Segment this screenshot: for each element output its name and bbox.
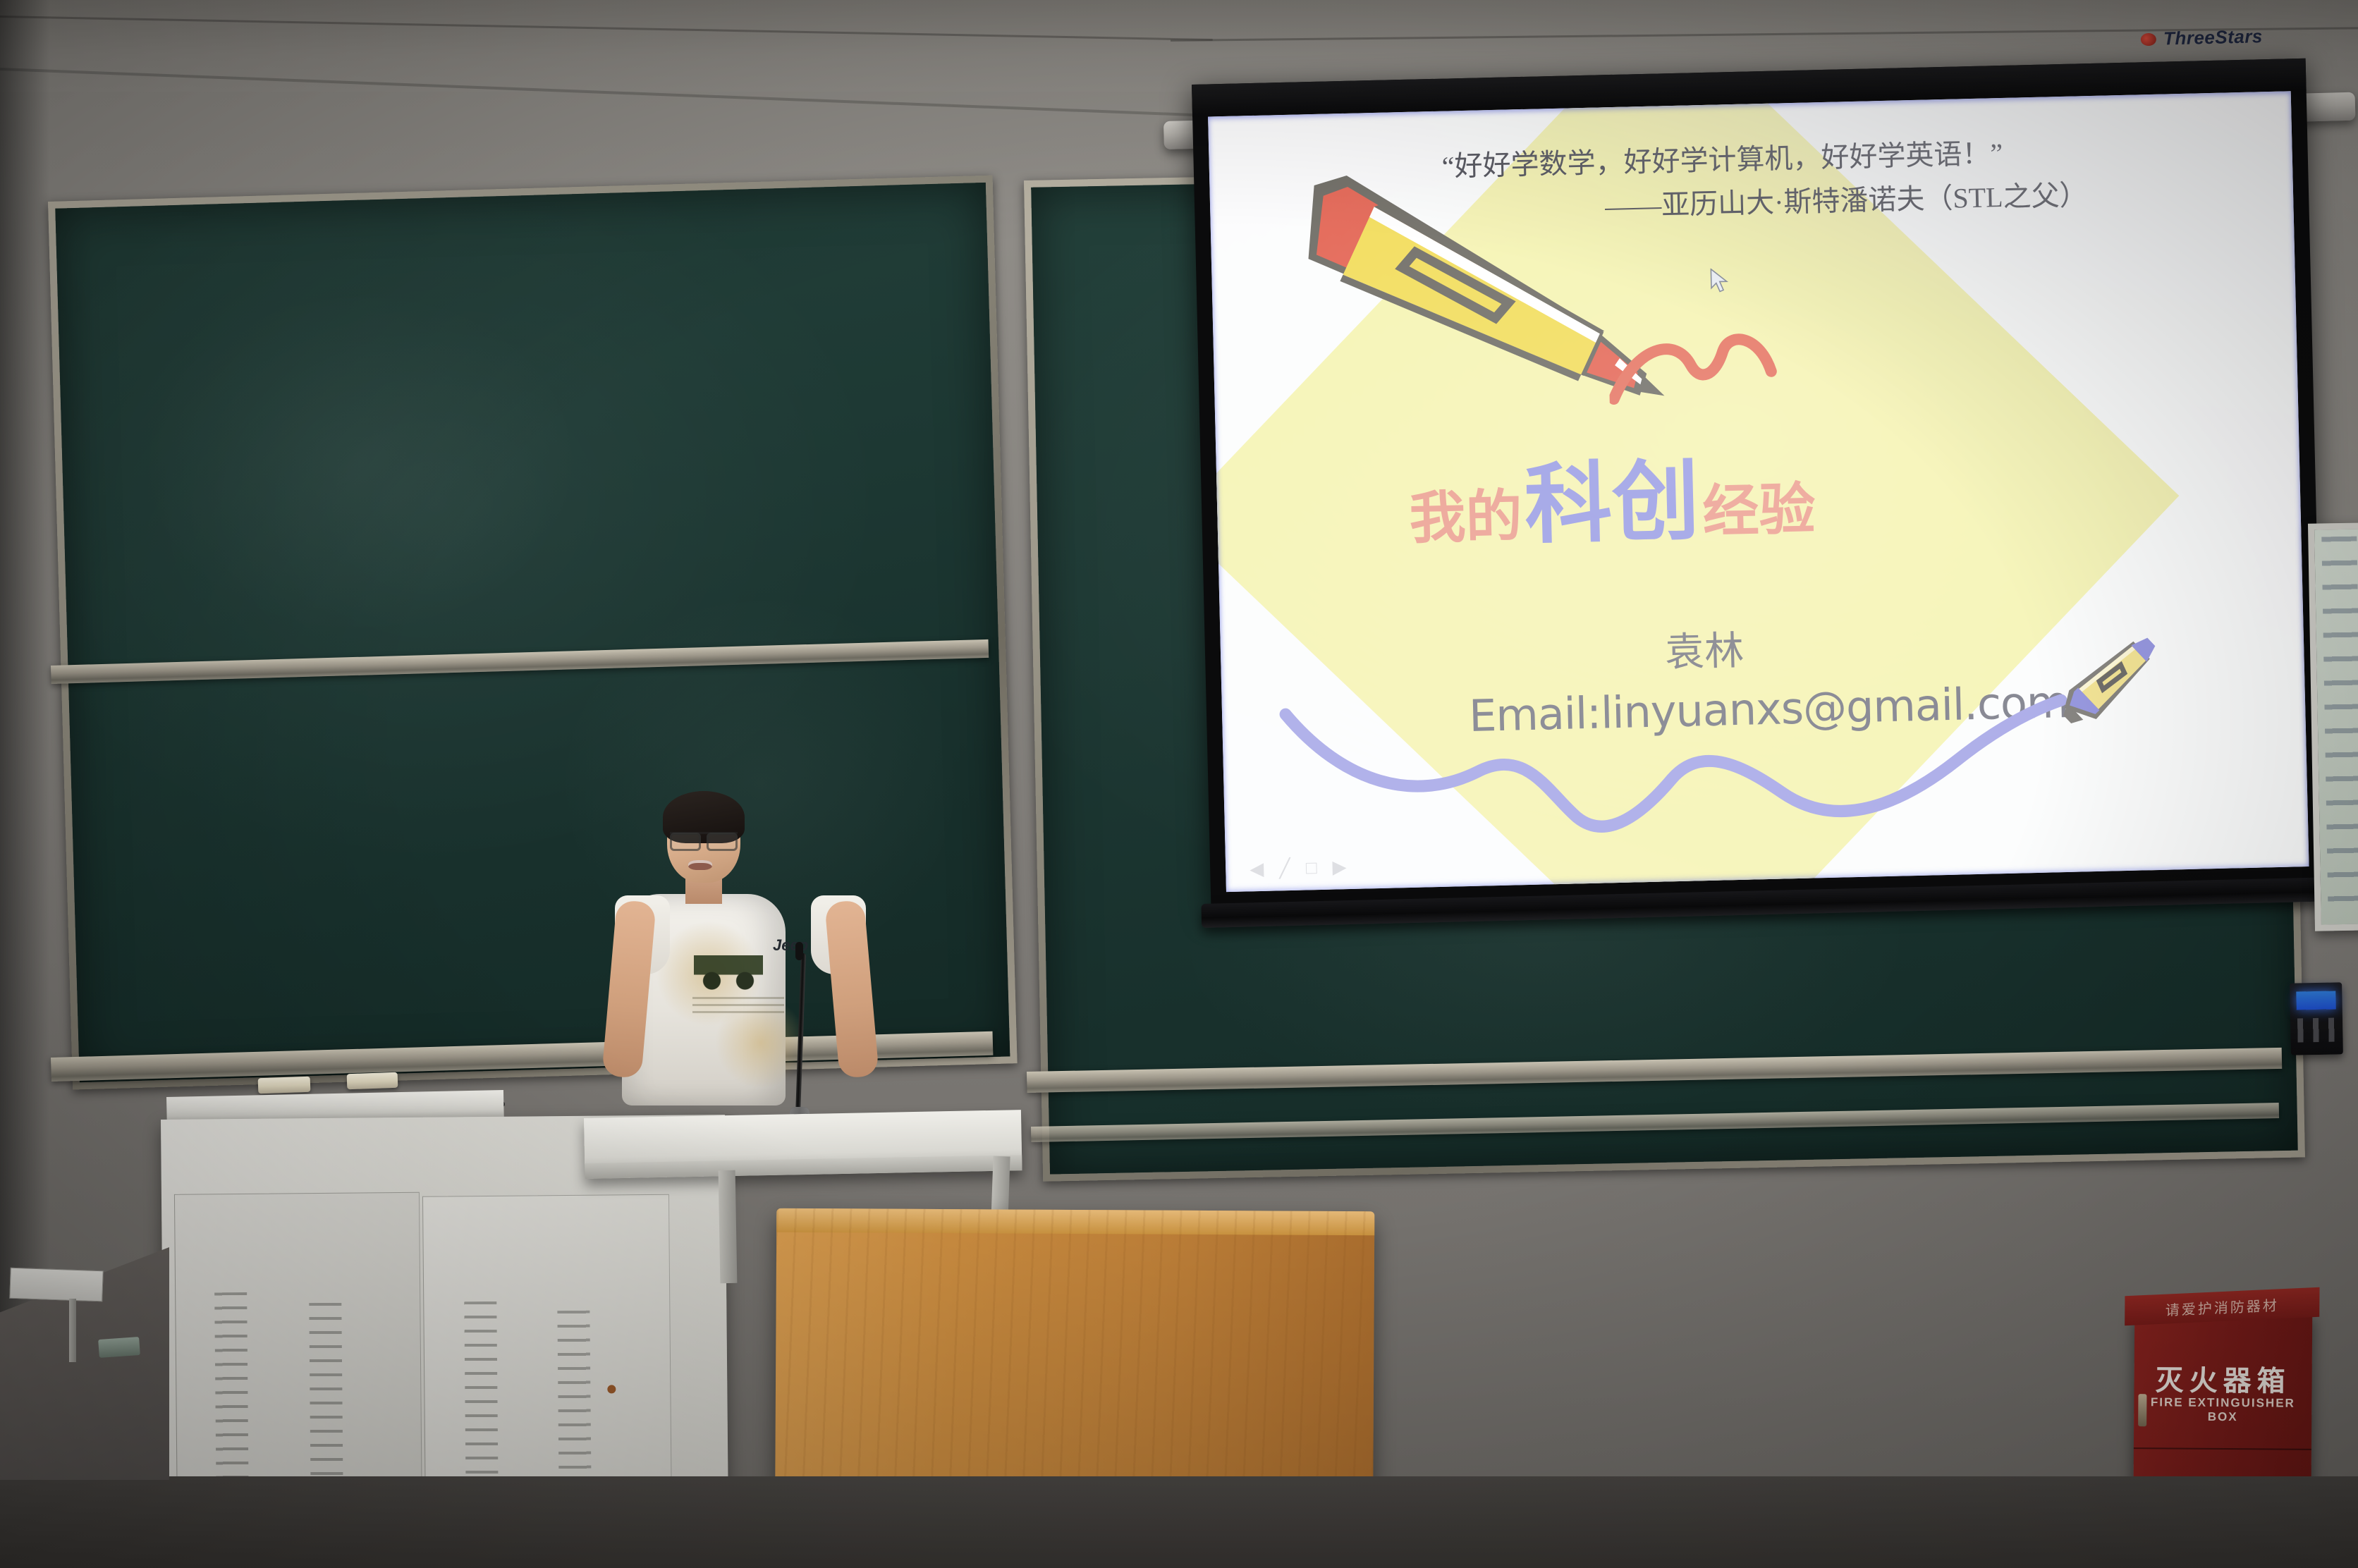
wall-outlet-icon[interactable]	[98, 1337, 140, 1358]
desk-support-leg	[719, 1170, 738, 1283]
slide-title-emphasis: 科创	[1523, 429, 1701, 561]
purple-wave-icon	[1278, 682, 2072, 862]
slide-title-prefix: 我的	[1408, 470, 1523, 555]
slide-title-suffix: 经验	[1702, 463, 1816, 548]
lectern-desk-surface	[584, 1110, 1022, 1179]
presenter-mouth	[688, 860, 712, 870]
slide-title: 我的 科创 经验	[1407, 427, 1816, 563]
eyeglasses-icon	[670, 832, 738, 848]
conduit-pipe	[69, 1299, 76, 1362]
photo-scene: ThreeStars	[0, 0, 2358, 1568]
slideshow-next-icon[interactable]: ▶	[1332, 856, 1347, 878]
fire-box-lid-text: 请爱护消防器材	[2165, 1294, 2279, 1319]
wall-control-panel[interactable]	[2290, 982, 2343, 1055]
shirt-slogan-text	[692, 997, 784, 1018]
screen-brand-label: ThreeStars	[2163, 25, 2264, 49]
notice-board-text-lines	[2321, 537, 2358, 918]
slideshow-prev-icon[interactable]: ◀	[1250, 858, 1264, 880]
screen-brand-logo: ThreeStars	[2141, 25, 2264, 50]
powerpoint-slide: “好好学数学，好好学计算机，好好学英语！” ——亚历山大·斯特潘诺夫（STL之父…	[1208, 91, 2309, 892]
projection-screen[interactable]: ThreeStars	[1192, 59, 2325, 909]
chalkboard-left	[48, 176, 1018, 1090]
fire-box-title-cn: 灭火器箱	[2134, 1357, 2311, 1399]
slide-surface[interactable]: “好好学数学，好好学计算机，好好学英语！” ——亚历山大·斯特潘诺夫（STL之父…	[1208, 91, 2309, 892]
slideshow-pen-icon[interactable]: ╱	[1279, 857, 1290, 879]
slideshow-toolbar[interactable]: ◀ ╱ □ ▶	[1250, 856, 1347, 880]
fire-box-seam	[2134, 1447, 2311, 1450]
jeep-vehicle-icon	[694, 948, 763, 991]
mouse-pointer-icon	[1709, 268, 1731, 294]
podium-top-surface	[776, 1208, 1374, 1235]
red-star-logo-icon	[2141, 32, 2156, 46]
chalk-eraser[interactable]	[347, 1072, 398, 1089]
classroom-floor	[0, 1476, 2358, 1568]
control-panel-lcd-icon	[2296, 991, 2335, 1010]
cabinet-lock-knob[interactable]	[607, 1385, 616, 1393]
slideshow-menu-icon[interactable]: □	[1306, 857, 1317, 878]
chalk-smudge	[132, 281, 588, 643]
light-switch-plate[interactable]	[9, 1268, 103, 1302]
slide-author: 袁林	[1664, 619, 1745, 678]
chalk-eraser[interactable]	[258, 1077, 311, 1094]
fire-box-title-en: FIRE EXTINGUISHER BOX	[2134, 1395, 2311, 1425]
pencil-icon	[2042, 617, 2179, 747]
microphone-capsule	[795, 942, 803, 960]
control-panel-buttons[interactable]	[2297, 1018, 2336, 1043]
classroom-notice-board	[2308, 522, 2358, 931]
red-squiggle-icon	[1608, 330, 1787, 419]
